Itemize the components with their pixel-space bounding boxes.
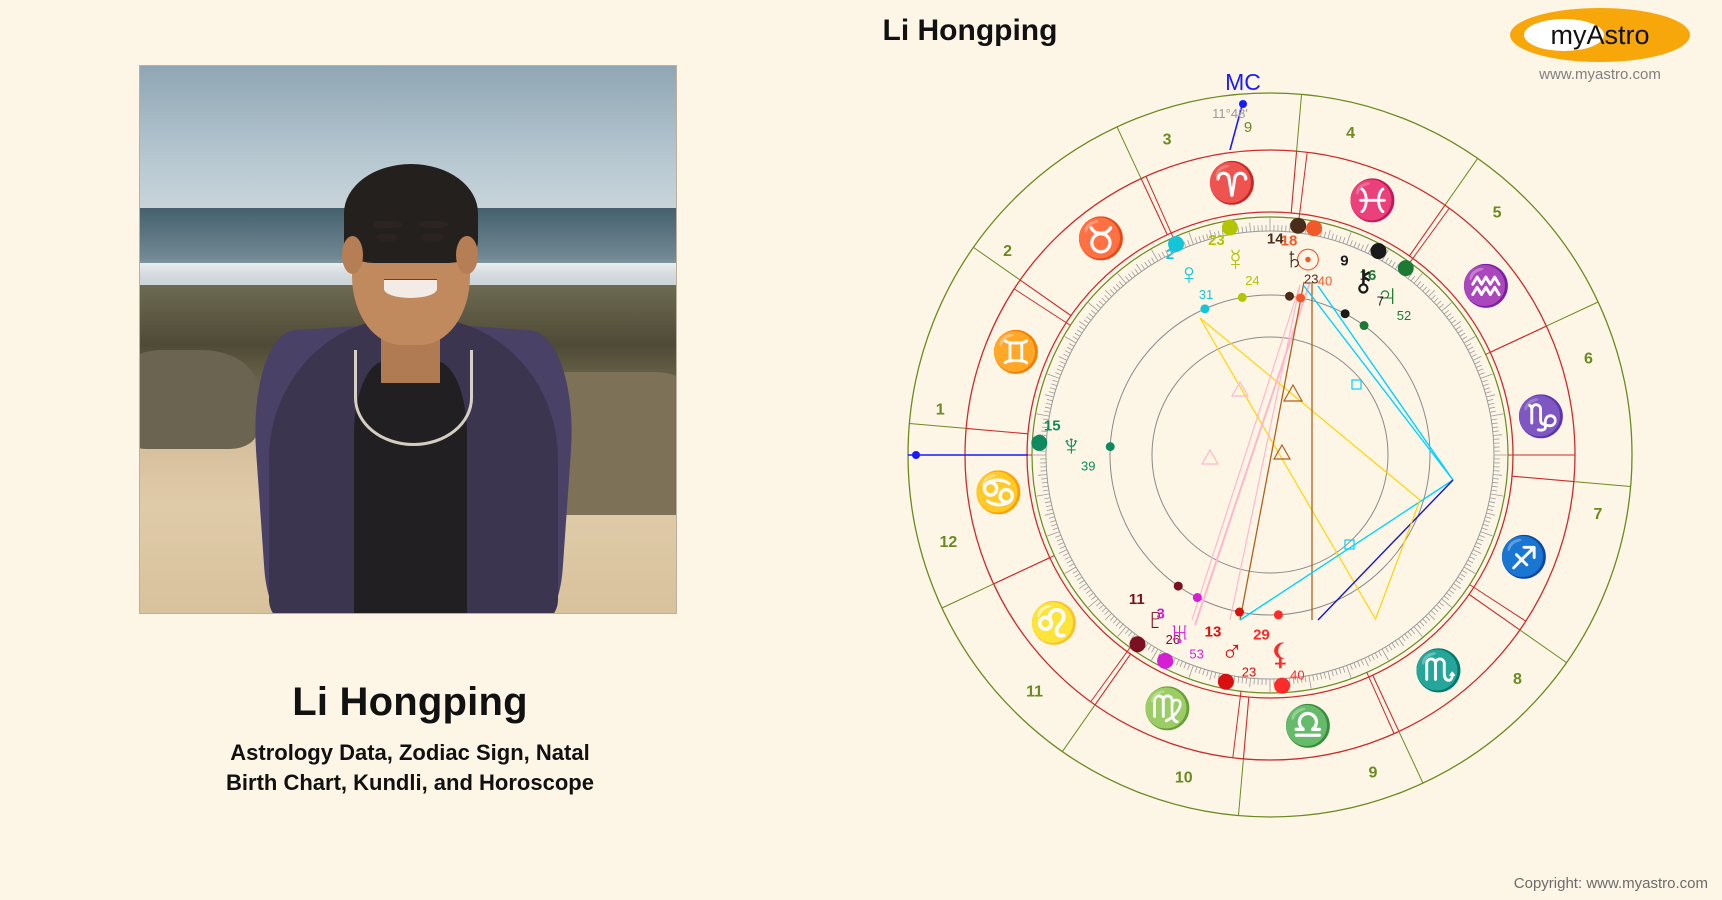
sign-division [1141, 179, 1167, 235]
degree-tick [1480, 532, 1492, 536]
degree-tick [1456, 326, 1461, 329]
degree-tick [1420, 621, 1424, 625]
planet-minute-venus: 31 [1199, 287, 1213, 302]
degree-tick [1488, 403, 1494, 404]
degree-tick [1069, 564, 1074, 567]
degree-tick [1047, 509, 1053, 510]
planet-layer[interactable]: ♃1652⚷97☉1840♄1423☿2324♀231♆1539♇1126♅35… [1031, 218, 1413, 694]
aspect-symbol [1284, 385, 1302, 401]
brand-name-astro: Astro [1586, 20, 1649, 50]
degree-tick [1049, 392, 1055, 394]
degree-tick [1492, 427, 1498, 428]
house-division [1445, 158, 1478, 205]
planet-glyph-saturn: ♄ [1283, 242, 1306, 275]
degree-tick [1043, 490, 1049, 491]
degree-tick [1091, 596, 1096, 600]
planet-glyph-uranus: ♅ [1168, 617, 1191, 650]
degree-tick [1482, 528, 1488, 530]
degree-tick [1475, 361, 1480, 363]
degree-tick [1451, 587, 1456, 591]
degree-tick [1447, 593, 1452, 597]
house-division [1520, 630, 1567, 663]
degree-tick [1152, 647, 1155, 652]
aspect-symbol [1202, 450, 1218, 464]
degree-tick [1116, 284, 1120, 288]
planet-marker-chiron[interactable] [1370, 243, 1386, 259]
aspect-line [1240, 282, 1304, 620]
zodiac-glyph-scorpio: ♏ [1414, 647, 1464, 693]
degree-tick [1439, 304, 1444, 308]
planet-marker-neptune[interactable] [1031, 435, 1047, 451]
degree-tick [1439, 602, 1444, 606]
degree-tick [1476, 543, 1482, 545]
planet-glyph-mercury: ☿ [1224, 244, 1247, 277]
degree-tick [1176, 660, 1178, 665]
planet-degree-neptune: 15 [1044, 418, 1061, 435]
degree-tick [1162, 252, 1165, 257]
degree-tick [1392, 262, 1395, 267]
degree-tick [1158, 254, 1161, 259]
degree-tick [1492, 423, 1498, 424]
degree-tick [1411, 629, 1415, 634]
planet-inner-dot-mars [1235, 608, 1244, 617]
degree-tick [1088, 303, 1098, 311]
house-number-12: 12 [939, 534, 957, 551]
zodiac-glyph-libra: ♎ [1283, 702, 1333, 748]
planet-degree-venus: 2 [1166, 246, 1174, 263]
degree-tick [1470, 351, 1475, 354]
degree-tick [1447, 313, 1452, 317]
degree-tick [1067, 347, 1072, 350]
degree-tick [1365, 244, 1369, 252]
photo-person-smile [384, 279, 438, 298]
degree-tick [1456, 580, 1461, 583]
degree-tick [1317, 674, 1318, 680]
ring-aspect-circle [1152, 337, 1388, 573]
sign-division [1512, 476, 1574, 481]
degree-tick [1065, 557, 1070, 560]
degree-tick [1045, 502, 1051, 503]
planet-degree-pluto: 11 [1129, 591, 1145, 608]
sign-division [1373, 675, 1399, 731]
brand-logo-ellipse: myAstro [1510, 8, 1690, 62]
photo-rock-left [139, 350, 258, 448]
degree-tick [1361, 660, 1363, 665]
degree-tick [1184, 663, 1186, 669]
degree-tick [1479, 373, 1485, 375]
degree-tick [1079, 580, 1084, 583]
degree-tick [1096, 304, 1101, 308]
degree-tick [1047, 399, 1053, 400]
degree-tick [1047, 532, 1059, 536]
degree-tick [1207, 670, 1209, 676]
degree-tick [1489, 407, 1495, 408]
degree-tick [1305, 676, 1306, 682]
degree-tick [1488, 505, 1494, 506]
degree-tick [1084, 320, 1089, 324]
degree-tick [1141, 264, 1144, 269]
asc-point [912, 451, 920, 459]
degree-tick [1417, 624, 1421, 629]
house-cusp [1014, 289, 1070, 325]
degree-tick [1088, 599, 1098, 607]
planet-glyph-chiron: ⚷ [1352, 264, 1374, 297]
house-cusp [1091, 648, 1130, 702]
aspect-lines [1192, 282, 1453, 625]
degree-tick [1102, 298, 1106, 302]
degree-tick [1105, 295, 1109, 299]
degree-tick [1053, 528, 1059, 530]
planet-glyph-mars: ♂ [1221, 635, 1244, 668]
planet-minute-neptune: 39 [1081, 459, 1095, 474]
degree-tick [1058, 365, 1064, 367]
degree-tick [1051, 384, 1057, 386]
degree-tick [1113, 287, 1117, 291]
midheaven-marker: MC 11°48' 9 [1212, 69, 1261, 150]
degree-tick [1431, 611, 1435, 615]
house-number-layer: 123456789101112 [936, 125, 1603, 787]
ring-planet-circle [1110, 295, 1430, 615]
degree-tick [1152, 258, 1155, 263]
degree-tick [1414, 273, 1422, 283]
natal-chart-wheel[interactable]: ♃1652⚷97☉1840♄1423☿2324♀231♆1539♇1126♅35… [900, 60, 1660, 850]
degree-tick [1368, 248, 1371, 253]
degree-tick [1203, 235, 1205, 241]
degree-tick [1110, 290, 1114, 294]
degree-tick [1483, 524, 1489, 526]
degree-tick [1475, 546, 1480, 548]
degree-tick [1398, 638, 1403, 645]
degree-tick [1453, 583, 1460, 588]
degree-tick [1389, 260, 1392, 265]
degree-tick [1086, 590, 1091, 594]
zodiac-glyph-pisces: ♓ [1348, 177, 1398, 223]
degree-tick [1077, 577, 1082, 580]
degree-tick [1487, 509, 1493, 510]
ring-zodiac-inner [1027, 212, 1513, 698]
house-division [1238, 759, 1243, 816]
house-number-5: 5 [1493, 204, 1502, 221]
degree-tick [1466, 343, 1471, 346]
degree-tick [1118, 273, 1126, 283]
planet-inner-dot-uranus [1193, 593, 1202, 602]
zodiac-glyph-capricorn: ♑ [1516, 393, 1566, 439]
degree-tick [1313, 675, 1314, 681]
profile-name: Li Hongping [0, 680, 820, 725]
degree-tick [1462, 337, 1467, 340]
degree-tick [1368, 656, 1371, 661]
planet-degree-chiron: 9 [1340, 252, 1348, 269]
brand-logo-text: myAstro [1510, 8, 1690, 62]
degree-tick [1084, 587, 1089, 591]
portrait-photo-frame [139, 65, 677, 614]
degree-tick [1350, 240, 1352, 246]
mc-degree: 11°48' [1212, 106, 1248, 121]
degree-tick [1347, 665, 1351, 677]
house-number-6: 6 [1584, 351, 1593, 368]
degree-tick [1250, 223, 1251, 232]
degree-tick [1128, 632, 1132, 637]
degree-tick [1434, 608, 1438, 612]
planet-marker-sun[interactable] [1306, 220, 1322, 236]
planet-inner-dot-chiron [1341, 309, 1350, 318]
degree-tick [1065, 351, 1070, 354]
degree-tick [1392, 643, 1395, 648]
degree-tick [1073, 570, 1078, 573]
degree-tick [1476, 365, 1482, 367]
house-number-2: 2 [1003, 243, 1012, 260]
house-number-9: 9 [1368, 765, 1377, 782]
degree-tick [1361, 245, 1363, 250]
sign-division [1243, 697, 1248, 759]
degree-tick [1113, 619, 1117, 623]
degree-tick [1328, 230, 1330, 239]
zodiac-glyph-aquarius: ♒ [1461, 262, 1511, 308]
planet-marker-pluto[interactable] [1130, 636, 1146, 652]
zodiac-glyph-aries: ♈ [1207, 160, 1257, 206]
degree-tick [1125, 629, 1129, 634]
degree-tick [1405, 634, 1409, 639]
degree-tick [1423, 619, 1427, 623]
degree-tick [1037, 414, 1050, 416]
degree-tick [1442, 303, 1452, 311]
photo-person-ear-left [342, 236, 363, 274]
photo-person-eyebrow-left [373, 221, 402, 228]
degree-tick [1484, 520, 1490, 522]
degree-tick [1077, 330, 1082, 333]
degree-tick [1479, 535, 1485, 537]
degree-tick [1042, 482, 1048, 483]
degree-tick [1485, 517, 1491, 519]
degree-tick [1063, 354, 1068, 357]
zodiac-glyph-virgo: ♍ [1142, 685, 1192, 731]
degree-tick [1458, 330, 1463, 333]
degree-tick [1234, 676, 1235, 682]
degree-tick [1354, 663, 1356, 669]
photo-person-eye-right [421, 233, 444, 242]
portrait-photo [140, 66, 676, 613]
degree-tick [1449, 317, 1454, 321]
house-division [1117, 127, 1141, 179]
planet-inner-dot-jupiter [1360, 321, 1369, 330]
degree-tick [1125, 276, 1129, 281]
degree-tick [1042, 486, 1048, 487]
degree-tick [1426, 290, 1430, 294]
profile-panel: Li Hongping Astrology Data, Zodiac Sign,… [0, 0, 820, 900]
degree-tick [1214, 672, 1215, 678]
degree-tick [1466, 564, 1471, 567]
sign-division [1291, 151, 1296, 213]
degree-tick [1089, 593, 1094, 597]
degree-tick [1451, 320, 1456, 324]
zodiac-glyph-leo: ♌ [1029, 600, 1079, 646]
planet-marker-mars[interactable] [1218, 674, 1234, 690]
degree-tick [1420, 284, 1424, 288]
degree-tick [1385, 258, 1388, 263]
degree-tick [1379, 651, 1382, 656]
house-number-3: 3 [1163, 131, 1172, 148]
degree-tick [1453, 321, 1460, 326]
zodiac-glyph-taurus: ♉ [1076, 215, 1126, 261]
degree-tick [1180, 661, 1182, 667]
aspect-line [1318, 286, 1453, 480]
degree-tick [1089, 313, 1094, 317]
degree-tick [1423, 287, 1427, 291]
chart-svg: ♃1652⚷97☉1840♄1423☿2324♀231♆1539♇1126♅35… [900, 60, 1660, 850]
degree-tick [1044, 498, 1050, 499]
degree-tick [1060, 546, 1065, 548]
degree-tick [1460, 574, 1465, 577]
degree-tick [1037, 494, 1050, 496]
house-division [1574, 482, 1631, 487]
sign-division [1095, 654, 1131, 705]
degree-tick [1354, 242, 1356, 248]
planet-minute-jupiter: 52 [1397, 308, 1411, 323]
degree-tick [1075, 574, 1080, 577]
degree-tick [1044, 411, 1050, 412]
house-division [1399, 731, 1423, 783]
degree-tick [1195, 667, 1197, 673]
degree-tick [1483, 384, 1489, 386]
degree-tick [1471, 553, 1476, 556]
degree-tick [1079, 326, 1084, 329]
degree-tick [1470, 557, 1475, 560]
degree-tick [1493, 478, 1499, 479]
degree-tick [1049, 517, 1055, 519]
planet-inner-dot-neptune [1106, 442, 1115, 451]
ring-degree-outer [1032, 217, 1508, 693]
degree-tick [1324, 672, 1325, 678]
degree-tick [1046, 505, 1052, 506]
degree-tick [1343, 238, 1345, 244]
degree-tick [1328, 671, 1330, 680]
planet-marker-uranus[interactable] [1157, 653, 1173, 669]
degree-tick [1238, 227, 1239, 233]
house-division [1297, 94, 1302, 151]
planet-degree-mars: 13 [1205, 623, 1222, 640]
degree-tick [1128, 274, 1132, 279]
planet-marker-saturn[interactable] [1290, 218, 1306, 234]
degree-tick [1462, 570, 1467, 573]
degree-tick [1335, 235, 1337, 241]
degree-tick [1482, 380, 1488, 382]
degree-tick [1320, 673, 1321, 679]
degree-tick [1188, 664, 1190, 670]
degree-tick [1136, 264, 1141, 271]
degree-tick [1195, 238, 1197, 244]
degree-tick [1099, 301, 1103, 305]
sign-division [1409, 205, 1445, 256]
degree-tick [1458, 577, 1463, 580]
degree-tick [1047, 374, 1059, 378]
chart-title: Li Hongping [770, 14, 1170, 48]
degree-tick [1473, 357, 1481, 361]
house-cusp [1410, 208, 1449, 262]
sign-division [966, 428, 1028, 433]
degree-tick [1487, 399, 1493, 400]
house-division [942, 584, 994, 608]
house-number-4: 4 [1346, 125, 1355, 142]
degree-tick [1102, 608, 1106, 612]
degree-tick [1442, 599, 1452, 607]
degree-tick [1079, 321, 1086, 326]
degree-tick [1118, 627, 1126, 637]
zodiac-glyph-sagittarius: ♐ [1499, 534, 1549, 580]
degree-tick [1339, 236, 1341, 242]
degree-tick [1332, 234, 1334, 240]
mc-house-number: 9 [1244, 119, 1252, 136]
degree-tick [1332, 670, 1334, 676]
degree-tick [1086, 317, 1091, 321]
degree-tick [1309, 676, 1311, 689]
degree-tick [1490, 498, 1496, 499]
planet-minute-chiron: 7 [1377, 293, 1384, 308]
degree-tick [1428, 290, 1434, 296]
degree-tick [1343, 667, 1345, 673]
degree-tick [1449, 590, 1454, 594]
degree-tick [1358, 661, 1360, 667]
degree-tick [1468, 347, 1473, 350]
degree-tick [1471, 354, 1476, 357]
degree-tick [1203, 669, 1205, 675]
planet-glyph-neptune: ♆ [1060, 430, 1083, 463]
degree-tick [1468, 560, 1473, 563]
degree-tick [1492, 482, 1498, 483]
planet-marker-jupiter[interactable] [1398, 260, 1414, 276]
degree-tick [1057, 369, 1063, 371]
planet-minute-uranus: 53 [1189, 646, 1203, 661]
planet-degree-uranus: 3 [1156, 605, 1164, 622]
degree-tick [1428, 613, 1434, 619]
planet-glyph-venus: ♀ [1178, 258, 1201, 291]
house-number-11: 11 [1026, 683, 1043, 700]
house-number-7: 7 [1593, 506, 1602, 523]
degree-tick [1119, 624, 1123, 629]
degree-tick [1426, 616, 1430, 620]
degree-tick [1478, 369, 1484, 371]
degree-tick [1486, 513, 1495, 515]
ring-degree-inner [1046, 231, 1494, 679]
house-division [909, 423, 966, 428]
house-cusp [1367, 672, 1394, 733]
degree-tick [1132, 271, 1136, 276]
degree-tick [1145, 262, 1148, 267]
planet-degree-saturn: 14 [1267, 230, 1284, 247]
house-number-10: 10 [1175, 770, 1193, 787]
degree-tick [1041, 478, 1047, 479]
degree-tick [1110, 616, 1114, 620]
degree-tick [1069, 343, 1074, 346]
house-cusp [1486, 326, 1547, 354]
degree-tick [1460, 333, 1465, 336]
house-cusp [1470, 585, 1526, 621]
degree-tick [1385, 647, 1388, 652]
degree-tick [1045, 407, 1051, 408]
planet-minute-sun: 40 [1318, 274, 1332, 289]
planet-marker-lilith[interactable] [1274, 678, 1290, 694]
aspect-line [1318, 480, 1453, 620]
degree-tick [1339, 668, 1341, 674]
degree-tick [1105, 613, 1111, 619]
degree-tick [1038, 475, 1047, 476]
degree-tick [1350, 664, 1352, 670]
degree-tick [1045, 395, 1054, 397]
degree-tick [1290, 223, 1291, 232]
degree-tick [1055, 535, 1061, 537]
house-division [1062, 705, 1095, 752]
degree-tick [1493, 475, 1502, 476]
brand-name-my: my [1550, 20, 1586, 50]
